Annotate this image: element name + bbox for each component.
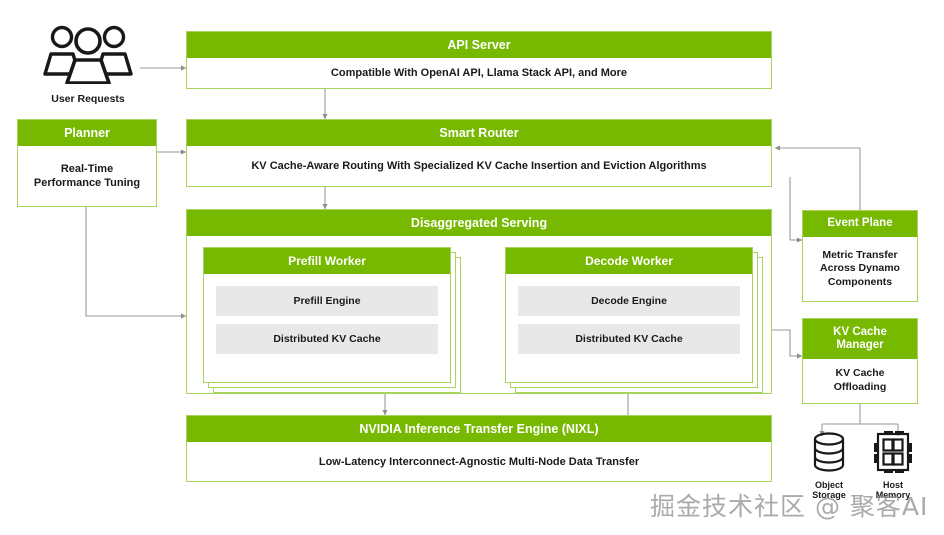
nixl-body: Low-Latency Interconnect-Agnostic Multi-… <box>187 442 771 482</box>
database-cylinder-icon <box>798 430 860 474</box>
planner-title: Planner <box>18 120 156 146</box>
prefill-worker-card[interactable]: Prefill Worker Prefill Engine Distribute… <box>203 247 451 383</box>
architecture-diagram: User Requests Planner Real-Time Performa… <box>0 0 944 535</box>
smart-router-card[interactable]: Smart Router KV Cache-Aware Routing With… <box>186 119 772 187</box>
api-server-body: Compatible With OpenAI API, Llama Stack … <box>187 58 771 89</box>
user-requests-group: User Requests <box>38 22 138 105</box>
api-server-title: API Server <box>187 32 771 58</box>
planner-body-line1: Real-Time <box>61 163 113 175</box>
kv-cache-manager-body-line1: KV Cache <box>835 367 884 379</box>
planner-body-line2: Performance Tuning <box>34 177 140 189</box>
decode-worker-title: Decode Worker <box>506 248 752 274</box>
event-plane-title: Event Plane <box>803 211 917 237</box>
kv-cache-manager-body-line2: Offloading <box>834 381 887 393</box>
nixl-title: NVIDIA Inference Transfer Engine (NIXL) <box>187 416 771 442</box>
planner-body: Real-Time Performance Tuning <box>18 146 156 206</box>
decode-distributed-kv-cache-box: Distributed KV Cache <box>518 324 740 354</box>
disaggregated-serving-title: Disaggregated Serving <box>187 210 771 236</box>
kv-cache-manager-title-line1: KV Cache <box>833 326 887 338</box>
kv-cache-manager-card[interactable]: KV Cache Manager KV Cache Offloading <box>802 318 918 404</box>
prefill-distributed-kv-cache-box: Distributed KV Cache <box>216 324 438 354</box>
users-icon <box>38 22 138 84</box>
memory-chip-icon <box>862 430 924 474</box>
wire-planner-to-disagg <box>86 207 186 316</box>
decode-worker-card[interactable]: Decode Worker Decode Engine Distributed … <box>505 247 753 383</box>
api-server-card[interactable]: API Server Compatible With OpenAI API, L… <box>186 31 772 89</box>
decode-worker-stack[interactable]: Decode Worker Decode Engine Distributed … <box>505 247 753 383</box>
kv-cache-manager-body: KV Cache Offloading <box>803 359 917 403</box>
event-plane-body: Metric Transfer Across Dynamo Components <box>803 237 917 301</box>
kv-cache-manager-title-line2: Manager <box>836 339 883 351</box>
planner-card[interactable]: Planner Real-Time Performance Tuning <box>17 119 157 207</box>
event-plane-body-line1: Metric Transfer <box>822 249 897 261</box>
decode-engine-box: Decode Engine <box>518 286 740 316</box>
wire-disagg-to-kvmanager <box>772 330 802 356</box>
wire-eventplane-to-router <box>775 148 860 210</box>
prefill-engine-box: Prefill Engine <box>216 286 438 316</box>
nixl-card[interactable]: NVIDIA Inference Transfer Engine (NIXL) … <box>186 415 772 482</box>
smart-router-body: KV Cache-Aware Routing With Specialized … <box>187 146 771 187</box>
event-plane-card[interactable]: Event Plane Metric Transfer Across Dynam… <box>802 210 918 302</box>
prefill-worker-stack[interactable]: Prefill Worker Prefill Engine Distribute… <box>203 247 451 383</box>
event-plane-body-line3: Components <box>828 276 892 288</box>
watermark-text: 掘金技术社区 @ 聚客AI <box>650 487 928 523</box>
prefill-worker-title: Prefill Worker <box>204 248 450 274</box>
event-plane-body-line2: Across Dynamo <box>820 262 900 274</box>
smart-router-title: Smart Router <box>187 120 771 146</box>
kv-cache-manager-title: KV Cache Manager <box>803 319 917 359</box>
user-requests-label: User Requests <box>38 93 138 105</box>
